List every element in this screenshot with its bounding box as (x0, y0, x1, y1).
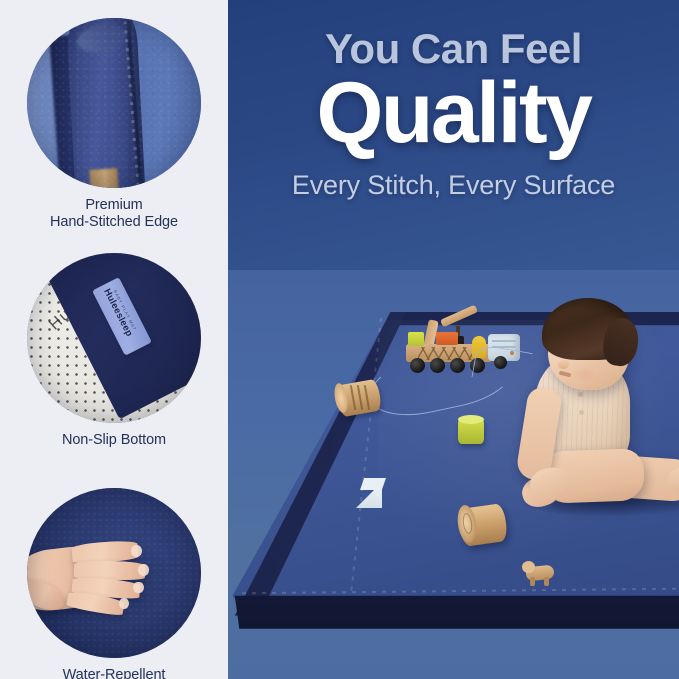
crane-boom (440, 305, 478, 328)
feature-non-slip-bottom: Huloosl Huleesleep BABY PLAY MAT Non-Sli… (0, 253, 228, 449)
cargo-orange-block (436, 332, 458, 345)
baby-nose (558, 360, 569, 369)
caption-line-1: Premium (85, 197, 142, 213)
caption-line-2: Hand-Stitched Edge (0, 214, 228, 231)
product-feature-graphic: Premium Hand-Stitched Edge Huloosl Hulee… (0, 0, 679, 679)
hero-panel: You Can Feel Quality Every Stitch, Every… (228, 0, 679, 679)
caption-line-1: Non-Slip Bottom (62, 432, 166, 448)
baby-cheek (574, 366, 596, 382)
headline-block: You Can Feel Quality Every Stitch, Every… (228, 0, 679, 201)
feature-water-repellent: Water-Repellent (0, 488, 228, 679)
headline-line-2: Quality (228, 70, 679, 156)
circle-vignette (27, 18, 201, 188)
feature-premium-hand-stitched-edge: Premium Hand-Stitched Edge (0, 18, 228, 231)
headline-subline: Every Stitch, Every Surface (228, 169, 679, 201)
baby-model (496, 300, 679, 600)
toy-white-triangle-block (356, 478, 390, 508)
toy-wooden-roller (338, 382, 380, 414)
feature-image-hand-stitched-edge (27, 18, 201, 188)
cargo-green-cylinder (408, 332, 424, 346)
cylinder-top (458, 415, 484, 424)
onesie-button (578, 392, 583, 397)
circle-vignette (27, 253, 201, 423)
onesie-button (579, 410, 584, 415)
circle-vignette (27, 488, 201, 658)
features-sidebar: Premium Hand-Stitched Edge Huloosl Hulee… (0, 0, 228, 679)
feature-caption-non-slip-bottom: Non-Slip Bottom (0, 432, 228, 449)
feature-image-non-slip-bottom: Huloosl Huleesleep BABY PLAY MAT (27, 253, 201, 423)
feature-caption-hand-stitched-edge: Premium Hand-Stitched Edge (0, 197, 228, 231)
caption-line-1: Water-Repellent (63, 667, 166, 679)
feature-image-water-repellent (27, 488, 201, 658)
feature-caption-water-repellent: Water-Repellent (0, 667, 228, 679)
triangle-top-face (360, 478, 386, 490)
toy-green-cylinder-block (458, 418, 484, 444)
